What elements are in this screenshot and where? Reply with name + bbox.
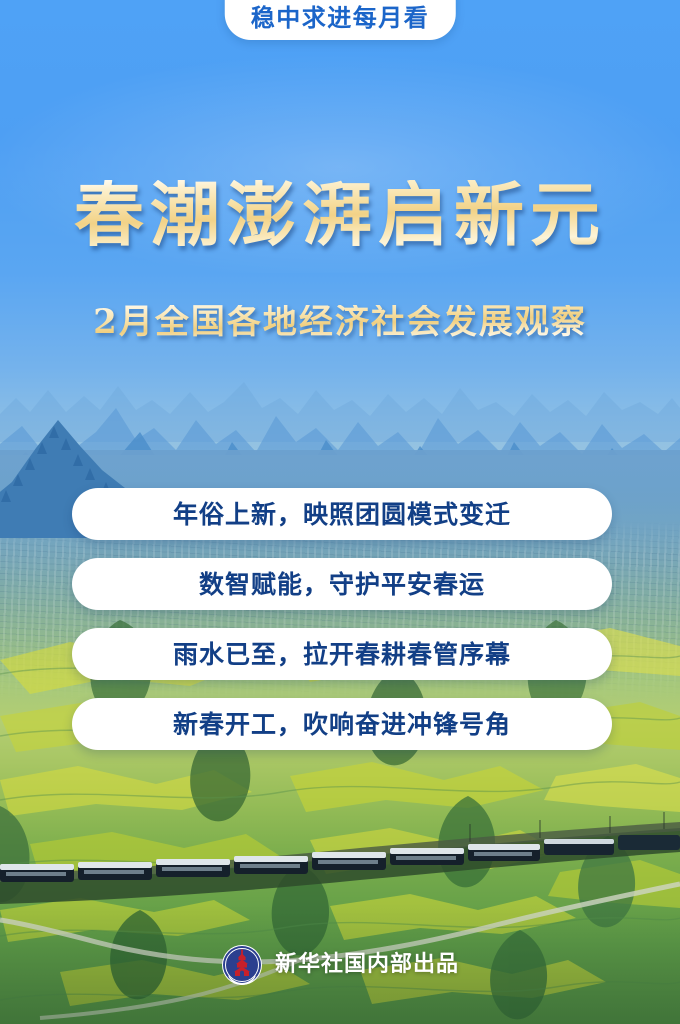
page-subtitle: 2月全国各地经济社会发展观察: [0, 305, 680, 339]
page-title: 春潮澎湃启新元: [0, 180, 680, 250]
footer-credit-label: 新华社国内部出品: [275, 954, 459, 976]
highlight-label: 雨水已至，拉开春耕春管序幕: [173, 642, 511, 667]
top-badge-label: 稳中求进每月看: [251, 6, 430, 30]
xinhua-agency-logo-icon: [221, 944, 263, 986]
highlight-label: 数智赋能，守护平安春运: [199, 572, 485, 597]
poster-root: 稳中求进每月看 春潮澎湃启新元 2月全国各地经济社会发展观察 年俗上新，映照团圆…: [0, 0, 680, 1024]
list-item[interactable]: 雨水已至，拉开春耕春管序幕: [72, 628, 612, 680]
subheadline-container: 2月全国各地经济社会发展观察: [0, 305, 680, 339]
highlight-label: 年俗上新，映照团圆模式变迁: [173, 502, 511, 527]
highlight-list: 年俗上新，映照团圆模式变迁 数智赋能，守护平安春运 雨水已至，拉开春耕春管序幕 …: [72, 488, 612, 750]
list-item[interactable]: 数智赋能，守护平安春运: [72, 558, 612, 610]
list-item[interactable]: 新春开工，吹响奋进冲锋号角: [72, 698, 612, 750]
highlight-label: 新春开工，吹响奋进冲锋号角: [173, 712, 511, 737]
headline-container: 春潮澎湃启新元: [0, 180, 680, 250]
list-item[interactable]: 年俗上新，映照团圆模式变迁: [72, 488, 612, 540]
top-badge[interactable]: 稳中求进每月看: [225, 0, 456, 40]
footer-credit: 新华社国内部出品: [0, 944, 680, 986]
